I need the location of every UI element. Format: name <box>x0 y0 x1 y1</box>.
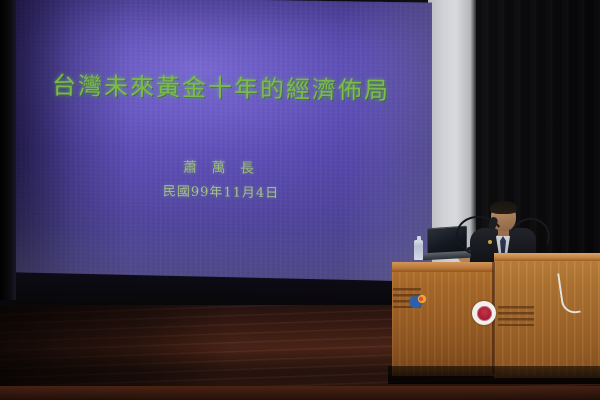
table-ground-shadow <box>388 366 600 384</box>
crest-inner-mark <box>477 306 492 321</box>
institution-crest-icon <box>472 301 496 325</box>
screen-shading-left <box>10 0 130 290</box>
left-dark-edge <box>0 0 16 300</box>
table-reeded-groove-right <box>498 306 534 326</box>
slide-date: 民國99年11月4日 <box>10 178 432 204</box>
stage-front-lip <box>0 386 600 400</box>
speaker-hair <box>490 201 517 214</box>
screen-shading-bottom <box>10 148 432 295</box>
screen-texture <box>10 0 432 295</box>
slide-title: 台灣未來黃金十年的經濟佈局 <box>10 72 432 105</box>
lectern-top-surface <box>494 253 600 261</box>
projection-screen: 台灣未來黃金十年的經濟佈局 蕭 萬 長 民國99年11月4日 <box>10 0 432 295</box>
water-bottle <box>414 240 423 260</box>
organization-logo-icon <box>408 293 429 309</box>
presentation-photo-scene: 台灣未來黃金十年的經濟佈局 蕭 萬 長 民國99年11月4日 <box>0 0 600 400</box>
slide-presenter-name: 蕭 萬 長 <box>10 154 432 181</box>
